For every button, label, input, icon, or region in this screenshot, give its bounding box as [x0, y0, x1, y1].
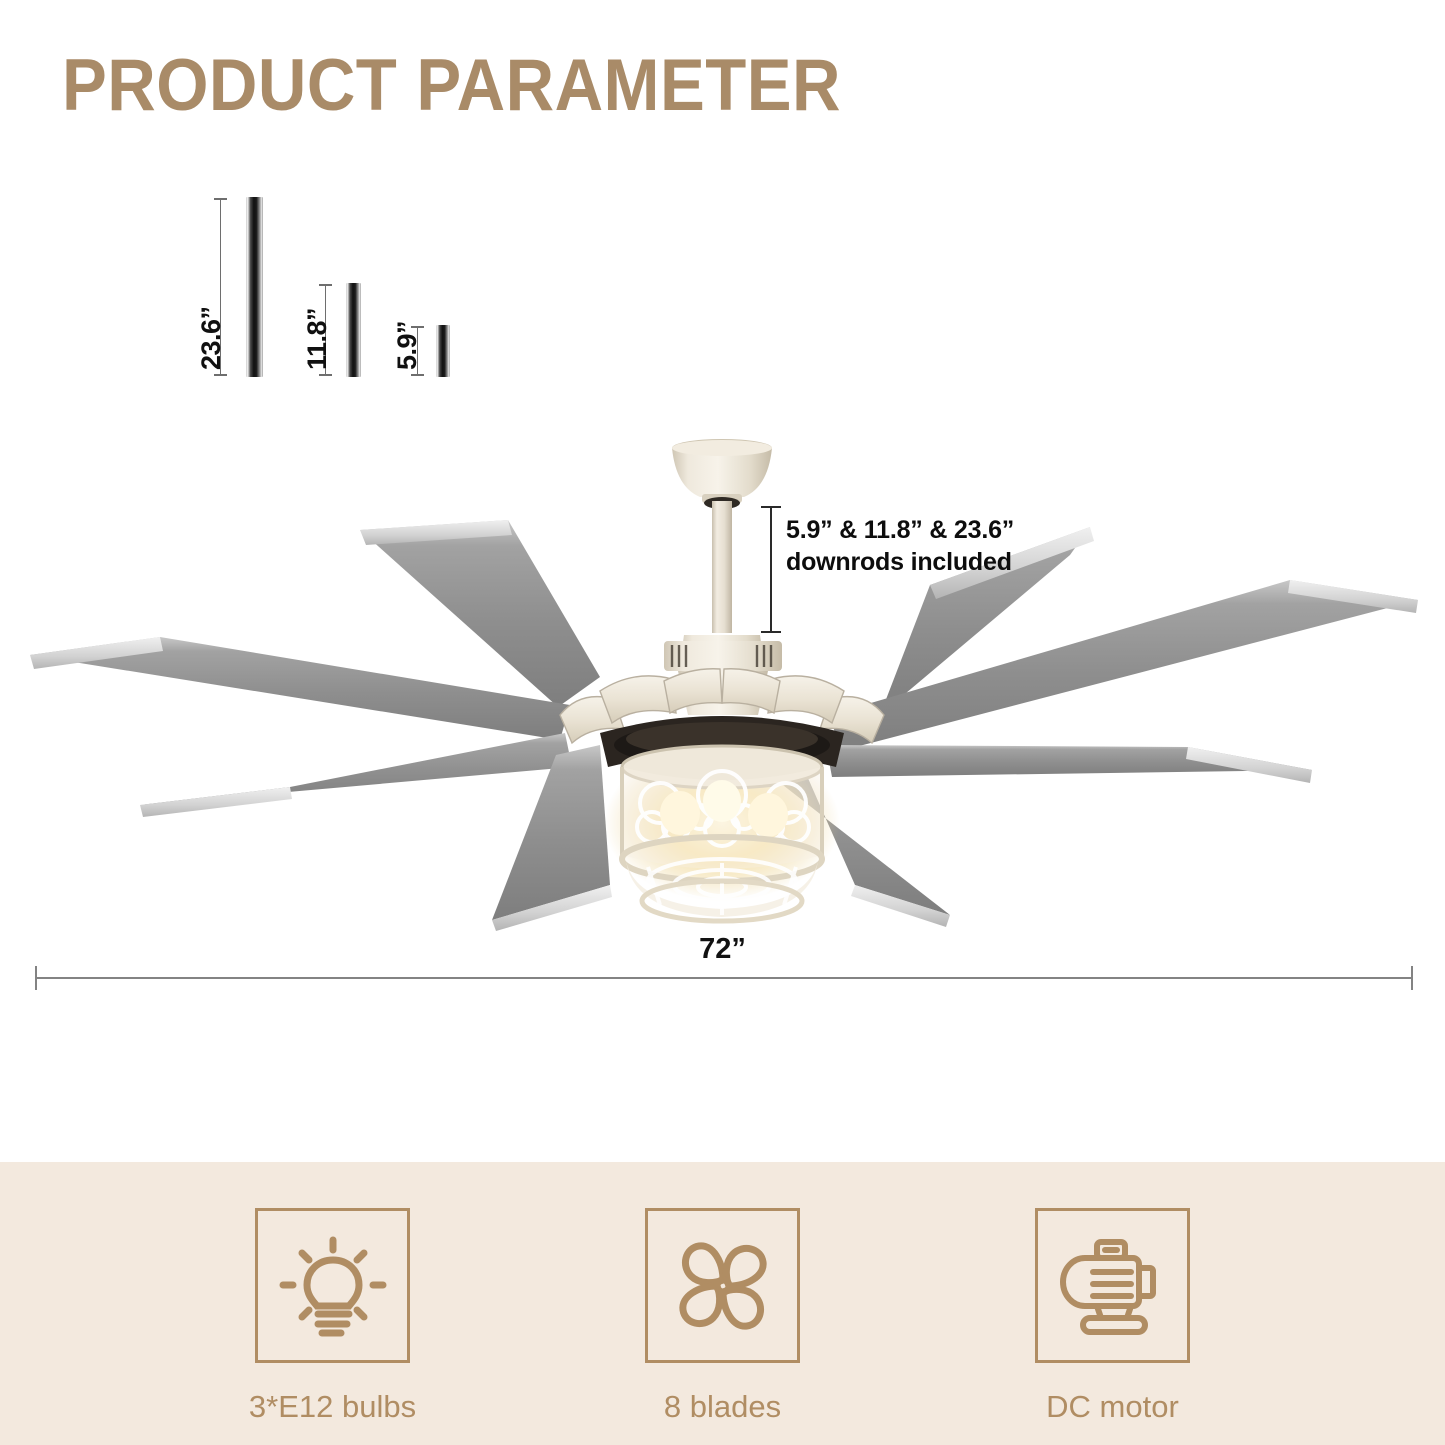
ceiling-canopy: [672, 439, 772, 509]
fan-svg: [0, 415, 1445, 955]
feature-icon-box-motor: [1035, 1208, 1190, 1363]
downrod-callout-text: 5.9” & 11.8” & 23.6” downrods included: [786, 514, 1014, 578]
feature-icon-box-bulbs: [255, 1208, 410, 1363]
downrod: [712, 501, 732, 633]
downrod-label-3: 5.9”: [392, 321, 423, 370]
downrod-spec-group: 23.6” 11.8” 5.9”: [180, 180, 520, 400]
downrod-bar-3: [436, 325, 450, 377]
lightbulb-icon: [277, 1230, 389, 1342]
ceiling-fan-illustration: [0, 415, 1445, 955]
feature-motor: DC motor: [918, 1162, 1308, 1425]
page-title: PRODUCT PARAMETER: [62, 44, 841, 127]
fan-blade: [826, 745, 1312, 783]
fan-blade: [30, 637, 570, 740]
feature-label-blades: 8 blades: [664, 1389, 781, 1425]
dc-motor-icon: [1057, 1230, 1169, 1342]
feature-label-motor: DC motor: [1046, 1389, 1179, 1425]
fan-blades-icon: [667, 1230, 779, 1342]
downrod-callout-line-1: 5.9” & 11.8” & 23.6”: [786, 514, 1014, 546]
feature-icon-box-blades: [645, 1208, 800, 1363]
light-fixture: [604, 745, 840, 921]
product-parameter-page: PRODUCT PARAMETER 23.6” 11.8” 5.9”: [0, 0, 1445, 1445]
fan-blade: [140, 733, 572, 817]
feature-row: 3*E12 bulbs 8 blades: [0, 1162, 1445, 1445]
downrod-callout-line-2: downrods included: [786, 546, 1014, 578]
feature-blades: 8 blades: [528, 1162, 918, 1425]
downrod-bar-1: [246, 197, 263, 377]
fan-width-label: 72”: [0, 933, 1445, 966]
downrod-callout-dimension-line: [770, 506, 772, 633]
downrod-bar-2: [346, 283, 361, 377]
feature-band: 3*E12 bulbs 8 blades: [0, 1162, 1445, 1445]
fan-blade: [492, 745, 612, 931]
feature-label-bulbs: 3*E12 bulbs: [249, 1389, 416, 1425]
downrod-label-2: 11.8”: [302, 308, 333, 370]
downrod-label-1: 23.6”: [196, 306, 227, 370]
feature-bulbs: 3*E12 bulbs: [138, 1162, 528, 1425]
fan-width-dimension-line: [35, 977, 1413, 979]
